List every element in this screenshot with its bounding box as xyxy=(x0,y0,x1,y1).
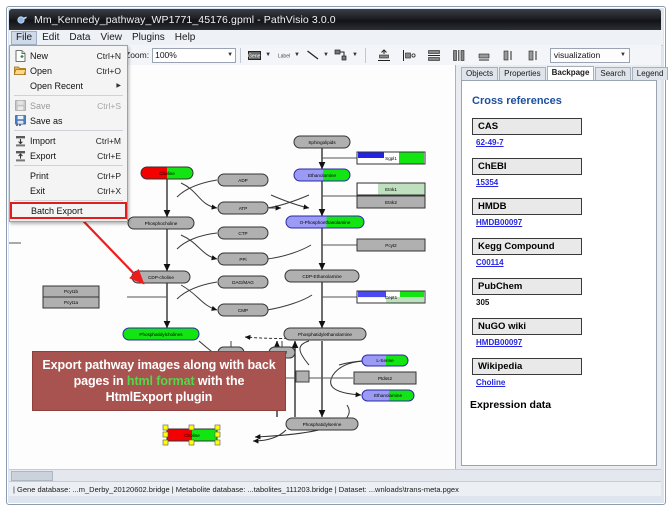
gene-sgpl1: Sgpl1 xyxy=(357,152,425,164)
xref-link-chebi[interactable]: 15354 xyxy=(476,178,498,187)
xref-label-cas: CAS xyxy=(472,118,582,135)
menu-data[interactable]: Data xyxy=(64,31,95,45)
menu-view[interactable]: View xyxy=(95,31,127,45)
menu-item-import-shortcut: Ctrl+M xyxy=(96,136,121,146)
zoom-label: Zoom: xyxy=(125,50,149,60)
save-icon xyxy=(10,99,30,113)
menu-item-export-label: Export xyxy=(30,151,97,161)
xref-group-cas: CAS 62-49-7 xyxy=(472,116,656,147)
xref-link-cas[interactable]: 62-49-7 xyxy=(476,138,504,147)
xref-label-pubchem: PubChem xyxy=(472,278,582,295)
svg-text:Ptdss2: Ptdss2 xyxy=(378,376,392,381)
gene-ptdss2: Ptdss2 xyxy=(354,372,416,384)
chevron-down-icon[interactable]: ▼ xyxy=(352,52,358,58)
chevron-down-icon[interactable]: ▼ xyxy=(323,52,329,58)
label-tool-icon[interactable]: Label xyxy=(275,47,292,63)
menu-edit[interactable]: Edit xyxy=(37,31,64,45)
right-dock-panel[interactable]: Objects Properties Backpage Search Legen… xyxy=(456,65,661,469)
xref-label-hmdb: HMDB xyxy=(472,198,582,215)
node-ppi: PPi xyxy=(218,253,268,265)
interaction-icon[interactable] xyxy=(333,47,350,63)
menu-item-exit[interactable]: Exit Ctrl+X xyxy=(10,183,127,198)
node-adp: ADP xyxy=(218,174,268,186)
svg-text:Pcyt1b: Pcyt1b xyxy=(64,289,78,294)
menu-item-open-shortcut: Ctrl+O xyxy=(96,66,121,76)
chevron-down-icon: ▼ xyxy=(620,52,626,58)
menu-item-exit-label: Exit xyxy=(30,186,97,196)
same-height-icon[interactable] xyxy=(501,47,518,63)
node-l-serine: L-Serine xyxy=(362,355,408,366)
toolbar-divider xyxy=(365,48,366,63)
gene-pcyt1b: Pcyt1b xyxy=(43,286,99,297)
blank-icon xyxy=(10,79,30,93)
line-tool-icon[interactable] xyxy=(304,47,321,63)
svg-text:O-Phosphoethanolamine: O-Phosphoethanolamine xyxy=(300,220,351,225)
submenu-arrow-icon: ▶ xyxy=(116,82,121,89)
svg-text:ADP: ADP xyxy=(238,178,247,183)
status-bar: | Gene database: ...m_Derby_20120602.bri… xyxy=(9,481,661,496)
align-left-icon[interactable] xyxy=(401,47,418,63)
xref-value-hmdb[interactable]: HMDB00097 xyxy=(476,218,656,227)
xref-label-wikipedia: Wikipedia xyxy=(472,358,582,375)
xref-group-chebi: ChEBI 15354 xyxy=(472,156,656,187)
tab-legend[interactable]: Legend xyxy=(632,67,669,80)
xref-link-nugo[interactable]: HMDB00097 xyxy=(476,338,522,347)
menu-item-exit-shortcut: Ctrl+X xyxy=(97,186,121,196)
menu-help[interactable]: Help xyxy=(170,31,201,45)
file-menu-dropdown[interactable]: New Ctrl+N Open Ctrl+O Open Recent ▶ Sav… xyxy=(9,45,128,222)
backpage-content[interactable]: Cross references CAS 62-49-7 ChEBI 15354… xyxy=(461,80,657,466)
chevron-down-icon[interactable]: ▼ xyxy=(294,52,300,58)
menu-item-new[interactable]: New Ctrl+N xyxy=(10,48,127,63)
xref-label-nugo: NuGO wiki xyxy=(472,318,582,335)
scrollbar-thumb[interactable] xyxy=(11,471,53,481)
toolbar-divider xyxy=(240,48,241,63)
svg-text:CTP: CTP xyxy=(238,231,247,236)
menu-item-save-shortcut: Ctrl+S xyxy=(97,101,121,111)
xref-group-kegg: Kegg Compound C00114 xyxy=(472,236,656,267)
menu-item-save-as[interactable]: Save as xyxy=(10,113,127,128)
svg-text:Phosphatidylethanolamine: Phosphatidylethanolamine xyxy=(298,332,352,337)
svg-text:Phosphatidylcholines: Phosphatidylcholines xyxy=(139,332,183,337)
menu-separator xyxy=(14,165,123,166)
menu-item-print-shortcut: Ctrl+P xyxy=(97,171,121,181)
gene-etnk2: Etnk2 xyxy=(357,196,425,208)
window-title: Mm_Kennedy_pathway_WP1771_45176.gpml - P… xyxy=(34,14,336,26)
visualization-combobox[interactable]: visualization ▼ xyxy=(550,48,630,63)
xref-value-kegg[interactable]: C00114 xyxy=(476,258,656,267)
xref-value-cas[interactable]: 62-49-7 xyxy=(476,138,656,147)
gene-pcyt1a: Pcyt1a xyxy=(43,297,99,308)
menu-item-open-recent[interactable]: Open Recent ▶ xyxy=(10,78,127,93)
align-top-icon[interactable] xyxy=(376,47,393,63)
menu-item-save-as-label: Save as xyxy=(30,116,121,126)
node-ethanolamine-bottom: Ethanolamine xyxy=(362,390,414,401)
svg-text:DAG/MAG: DAG/MAG xyxy=(232,280,254,285)
zoom-value: 100% xyxy=(155,50,177,60)
menu-item-new-label: New xyxy=(30,51,97,61)
node-atp: ATP xyxy=(218,202,268,214)
gene-etnk1: Etnk1 xyxy=(357,183,425,195)
svg-text:Sgpl1: Sgpl1 xyxy=(385,156,397,161)
callout-highlight: html format xyxy=(127,374,195,388)
svg-text:Sphingolipids: Sphingolipids xyxy=(308,140,336,145)
menu-item-print-label: Print xyxy=(30,171,97,181)
menu-item-batch-export-label: Batch Export xyxy=(31,206,126,216)
dock-tab-bar[interactable]: Objects Properties Backpage Search Legen… xyxy=(461,67,659,80)
chevron-down-icon[interactable]: ▼ xyxy=(265,52,271,58)
new-file-icon xyxy=(10,49,30,63)
distribute-v-icon[interactable] xyxy=(426,47,443,63)
xref-value-wikipedia[interactable]: Choline xyxy=(476,378,656,387)
blank-icon xyxy=(10,184,30,198)
menu-item-print[interactable]: Print Ctrl+P xyxy=(10,168,127,183)
node-sphingolipids: Sphingolipids xyxy=(294,136,350,148)
node-ctp: CTP xyxy=(218,227,268,239)
xref-link-kegg[interactable]: C00114 xyxy=(476,258,504,267)
node-phosphatidylserine: Phosphatidylserine xyxy=(286,418,358,430)
save-as-icon xyxy=(10,114,30,128)
screenshot-root: Mm_Kennedy_pathway_WP1771_45176.gpml - P… xyxy=(0,0,670,509)
menu-item-save-label: Save xyxy=(30,101,97,111)
visualization-value: visualization xyxy=(554,50,600,60)
menu-item-import-label: Import xyxy=(30,136,96,146)
menu-item-open-label: Open xyxy=(30,66,96,76)
gene-pcyt2: Pcyt2 xyxy=(357,239,425,251)
node-cmp: CMP xyxy=(218,304,268,316)
xref-group-nugo: NuGO wiki HMDB00097 xyxy=(472,316,656,347)
export-icon xyxy=(10,149,30,163)
svg-text:PPi: PPi xyxy=(239,257,246,262)
xref-group-wikipedia: Wikipedia Choline xyxy=(472,356,656,387)
menu-separator xyxy=(14,200,123,201)
node-phosphatidylcholines: Phosphatidylcholines xyxy=(123,328,199,340)
svg-text:Phosphatidylserine: Phosphatidylserine xyxy=(303,422,342,427)
node-dag-mag: DAG/MAG xyxy=(218,276,268,288)
tab-objects[interactable]: Objects xyxy=(461,67,498,80)
xref-group-pubchem: PubChem 305 xyxy=(472,276,656,307)
annotation-callout: Export pathway images along with back pa… xyxy=(32,351,286,411)
import-icon xyxy=(10,134,30,148)
same-width-icon[interactable] xyxy=(476,47,493,63)
tab-properties[interactable]: Properties xyxy=(499,67,545,80)
xref-value-pubchem: 305 xyxy=(476,298,656,307)
menu-item-export[interactable]: Export Ctrl+E xyxy=(10,148,127,163)
svg-text:CDP-choline: CDP-choline xyxy=(148,275,174,280)
svg-text:Phosphocholine: Phosphocholine xyxy=(145,221,178,226)
callout-line-2-b: with the xyxy=(195,374,245,388)
callout-line-2-a: pages in xyxy=(74,374,127,388)
xref-group-hmdb: HMDB HMDB00097 xyxy=(472,196,656,227)
svg-text:Choline: Choline xyxy=(159,171,175,176)
svg-text:Pcyt1a: Pcyt1a xyxy=(64,300,78,305)
node-phosphatidylethanolamine: Phosphatidylethanolamine xyxy=(284,328,366,340)
menu-item-save: Save Ctrl+S xyxy=(10,98,127,113)
expression-data-title: Expression data xyxy=(470,399,656,411)
callout-line-1: Export pathway images along with back xyxy=(42,357,275,373)
svg-text:Etnk2: Etnk2 xyxy=(385,200,397,205)
svg-text:Etnk1: Etnk1 xyxy=(385,187,397,192)
svg-text:Label: Label xyxy=(277,54,289,60)
gene-cept1: Cept1 xyxy=(357,291,425,303)
node-choline-top: Choline xyxy=(141,167,193,179)
svg-text:Gene: Gene xyxy=(248,53,260,59)
svg-text:Ethanolamine: Ethanolamine xyxy=(374,393,403,398)
chevron-down-icon: ▼ xyxy=(227,52,233,58)
menu-item-open[interactable]: Open Ctrl+O xyxy=(10,63,127,78)
blank-icon xyxy=(10,169,30,183)
menu-item-export-shortcut: Ctrl+E xyxy=(97,151,121,161)
callout-line-2: pages in html format with the xyxy=(74,373,245,389)
menu-separator xyxy=(14,95,123,96)
xref-value-nugo[interactable]: HMDB00097 xyxy=(476,338,656,347)
tab-backpage[interactable]: Backpage xyxy=(547,66,595,80)
menu-bar[interactable]: File Edit Data View Plugins Help xyxy=(9,30,663,46)
app-icon xyxy=(16,14,28,26)
title-bar: Mm_Kennedy_pathway_WP1771_45176.gpml - P… xyxy=(9,9,661,30)
menu-file[interactable]: File xyxy=(11,31,37,45)
node-cdp-choline: CDP-choline xyxy=(132,271,190,283)
gene-product-icon[interactable]: Gene xyxy=(246,47,263,63)
status-text: | Gene database: ...m_Derby_20120602.bri… xyxy=(13,485,459,494)
menu-item-batch-export[interactable]: Batch Export xyxy=(11,203,126,218)
svg-text:Ethanolamine: Ethanolamine xyxy=(308,173,337,178)
zoom-combobox[interactable]: 100% ▼ xyxy=(152,48,236,63)
svg-text:Pcyt2: Pcyt2 xyxy=(385,243,397,248)
callout-line-3: HtmlExport plugin xyxy=(106,389,213,405)
svg-text:ATP: ATP xyxy=(239,206,248,211)
svg-text:CMP: CMP xyxy=(238,308,248,313)
node-choline-selected[interactable]: Choline xyxy=(163,425,220,445)
menu-separator xyxy=(14,130,123,131)
svg-text:L-Serine: L-Serine xyxy=(376,358,394,363)
horizontal-scrollbar[interactable] xyxy=(9,469,661,481)
distribute-h-icon[interactable] xyxy=(451,47,468,63)
svg-text:CDP-Ethanolamine: CDP-Ethanolamine xyxy=(302,274,342,279)
xref-label-chebi: ChEBI xyxy=(472,158,582,175)
node-phosphocholine: Phosphocholine xyxy=(128,217,194,229)
tab-search[interactable]: Search xyxy=(595,67,630,80)
svg-text:Choline: Choline xyxy=(184,433,200,438)
xref-link-hmdb[interactable]: HMDB00097 xyxy=(476,218,522,227)
menu-plugins[interactable]: Plugins xyxy=(127,31,170,45)
xref-link-wikipedia[interactable]: Choline xyxy=(476,378,505,387)
visualization-icon[interactable] xyxy=(526,47,543,63)
folder-open-icon xyxy=(10,64,30,78)
xref-label-kegg: Kegg Compound xyxy=(472,238,582,255)
node-o-phosphoethanolamine: O-Phosphoethanolamine xyxy=(286,216,364,228)
menu-item-import[interactable]: Import Ctrl+M xyxy=(10,133,127,148)
xref-value-chebi[interactable]: 15354 xyxy=(476,178,656,187)
menu-item-open-recent-label: Open Recent xyxy=(30,81,116,91)
blank-icon xyxy=(11,204,31,218)
node-cdp-ethanolamine: CDP-Ethanolamine xyxy=(285,270,359,282)
cross-references-title: Cross references xyxy=(472,95,656,107)
svg-text:Cept1: Cept1 xyxy=(385,295,398,300)
node-ethanolamine-top: Ethanolamine xyxy=(294,169,350,181)
menu-item-new-shortcut: Ctrl+N xyxy=(97,51,121,61)
